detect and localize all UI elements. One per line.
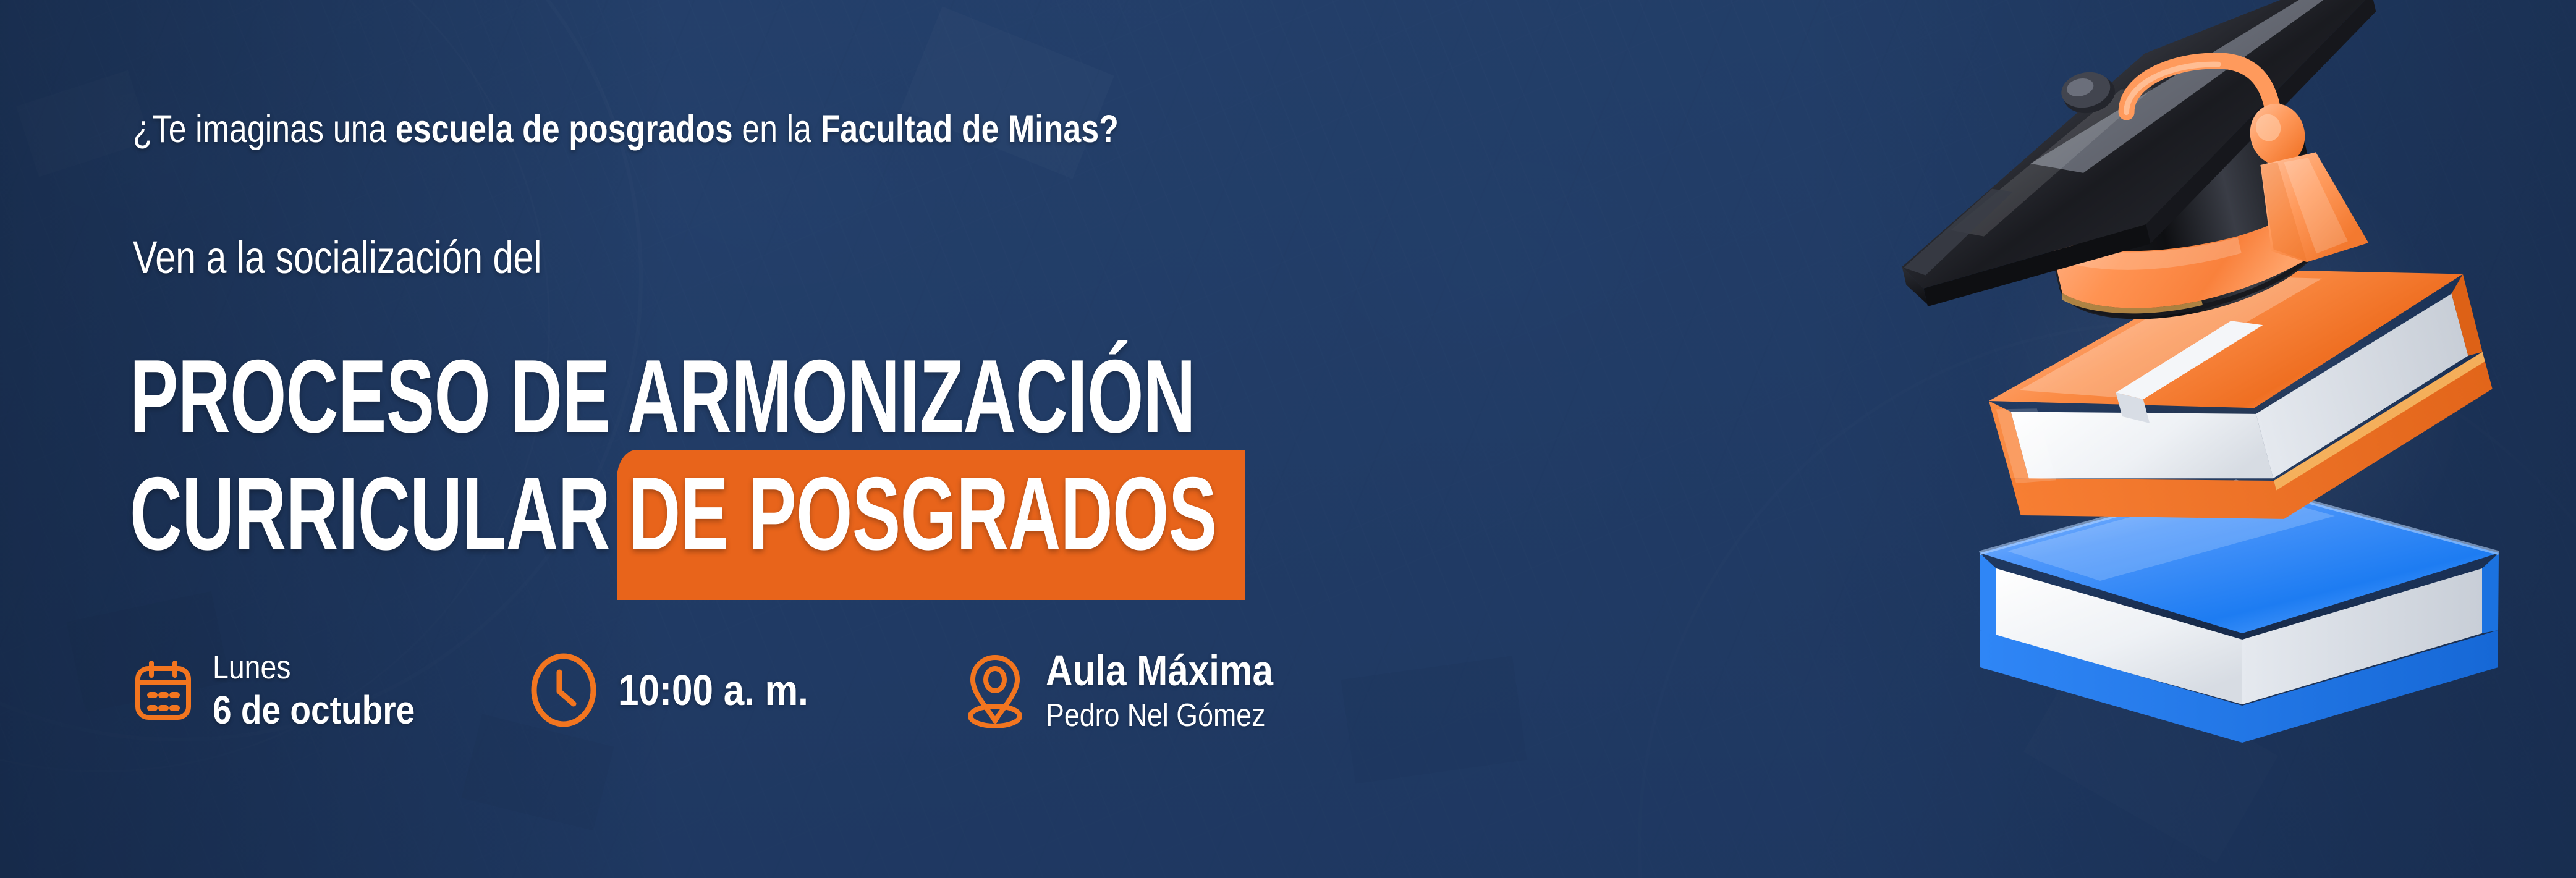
orange-book [1972,209,2512,585]
clock-icon [530,653,597,727]
time-text: 10:00 a. m. [618,669,839,712]
date-text: Lunes 6 de octubre [213,651,448,730]
calendar-icon [135,660,192,720]
headline-highlight: DE POSGRADOS [617,454,1228,580]
headline-line-2-text: CURRICULAR [130,455,610,572]
info-item-place: Aula Máxima Pedro Nel Gómez [963,649,1519,732]
place-detail: Pedro Nel Gómez [1046,699,1273,732]
info-item-time: 10:00 a. m. [530,653,963,727]
place-text: Aula Máxima Pedro Nel Gómez [1046,649,1310,732]
subline: Ven a la socialización del [133,235,542,281]
mortarboard [1860,0,2418,310]
graduation-cap [1860,0,2433,375]
kicker-part-1: ¿Te imaginas una [133,108,396,151]
graduation-cap-and-books-illustration [1853,0,2576,760]
kicker-line: ¿Te imaginas una escuela de posgrados en… [133,109,1119,150]
location-pin-icon [963,652,1027,728]
info-item-date: Lunes 6 de octubre [135,651,530,730]
headline-line-1: PROCESO DE ARMONIZACIÓN [130,347,1228,446]
blue-book [1980,482,2499,743]
kicker-part-2: escuela de posgrados [396,108,733,151]
date-weekday: Lunes [213,651,415,684]
kicker-part-3: en la [733,108,821,151]
place-name: Aula Máxima [1046,649,1273,692]
date-value: 6 de octubre [213,690,415,730]
headline-line-2: CURRICULARDE POSGRADOS [130,454,1228,580]
kicker-part-4: Facultad de Minas? [821,108,1119,151]
time-value: 10:00 a. m. [618,669,808,712]
illustration-glow [1946,111,2502,667]
headline-block: PROCESO DE ARMONIZACIÓN CURRICULARDE POS… [130,347,1698,579]
event-info-strip: Lunes 6 de octubre 10:00 a. m. [135,649,1519,732]
event-banner: ¿Te imaginas una escuela de posgrados en… [0,0,2576,878]
